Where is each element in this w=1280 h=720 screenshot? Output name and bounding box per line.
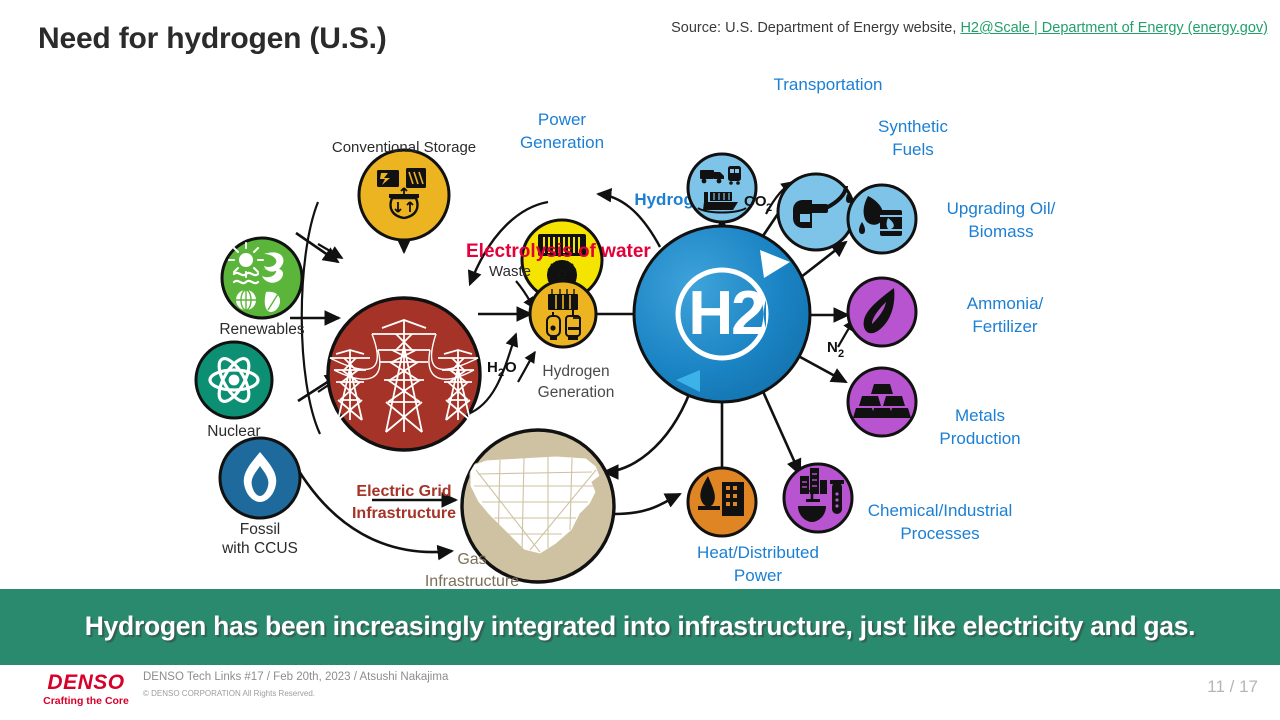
node-label-renewables: Renewables	[219, 321, 305, 338]
node-label-fossil-line1: Fossil	[240, 521, 280, 538]
source-prefix: Source: U.S. Department of Energy websit…	[671, 20, 956, 36]
node-fossil-ccus: Fossil with CCUS	[220, 438, 300, 557]
flow-label-water: H 2 O	[487, 359, 517, 379]
flow-label-waste: Waste	[489, 263, 531, 280]
node-chemical-industrial: Chemical/Industrial Processes	[784, 464, 1012, 543]
key-message-text: Hydrogen has been increasingly integrate…	[69, 611, 1211, 641]
node-power-generation: Power Generation	[520, 110, 604, 300]
annotation-electrolysis: Electrolysis of water	[466, 241, 651, 262]
node-nuclear: Nuclear	[196, 342, 272, 440]
node-label-conventional-storage: Conventional Storage	[332, 139, 476, 156]
node-label-chemical-line2: Processes	[900, 524, 979, 543]
node-upgrading-oil-biomass: Upgrading Oil/ Biomass	[848, 185, 1056, 253]
footer-meta: DENSO Tech Links #17 / Feb 20th, 2023 / …	[143, 671, 448, 683]
hub-glyph: H2	[688, 279, 763, 348]
node-label-upgrading-oil-line2: Biomass	[968, 222, 1033, 241]
node-label-electric-grid-line2: Infrastructure	[352, 505, 456, 522]
denso-wordmark: DENSO	[36, 672, 136, 693]
node-label-metals-line2: Production	[939, 429, 1020, 448]
node-label-power-generation-line1: Power	[538, 110, 587, 129]
node-ammonia-fertilizer: Ammonia/ Fertilizer	[848, 278, 1044, 346]
node-label-heat-line2: Power	[734, 566, 783, 585]
node-label-transportation: Transportation	[774, 75, 883, 94]
svg-text:N: N	[827, 339, 838, 356]
node-hydrogen-generation: Hydrogen Generation	[530, 281, 614, 401]
source-attribution: Source: U.S. Department of Energy websit…	[671, 20, 1268, 36]
node-label-power-generation-line2: Generation	[520, 133, 604, 152]
svg-text:CO: CO	[744, 193, 767, 210]
key-message-banner: Hydrogen has been increasingly integrate…	[0, 589, 1280, 663]
svg-text:2: 2	[838, 348, 844, 360]
node-conventional-storage: Conventional Storage	[332, 139, 476, 240]
node-label-hydrogen-generation-line2: Generation	[538, 384, 615, 401]
node-label-synthetic-fuels-line1: Synthetic	[878, 117, 948, 136]
h2-at-scale-diagram: Renewables Nuclear Fossil with CCUS	[0, 62, 1280, 587]
node-label-heat-line1: Heat/Distributed	[697, 543, 819, 562]
page-number: 11 / 17	[1207, 677, 1258, 697]
atom-nucleus	[229, 375, 240, 386]
node-label-ammonia-line2: Fertilizer	[972, 317, 1038, 336]
node-label-metals-line1: Metals	[955, 406, 1005, 425]
node-renewables: Renewables	[219, 238, 305, 338]
page-title: Need for hydrogen (U.S.)	[38, 22, 387, 56]
svg-text:O: O	[505, 359, 517, 376]
svg-text:H: H	[487, 359, 498, 376]
node-label-chemical-line1: Chemical/Industrial	[868, 501, 1013, 520]
node-electric-grid: Electric Grid Infrastructure	[328, 298, 480, 522]
source-link[interactable]: H2@Scale | Department of Energy (energy.…	[960, 20, 1268, 36]
denso-logo: DENSO Crafting the Core	[36, 672, 136, 707]
slide-footer: DENSO Crafting the Core DENSO Tech Links…	[0, 663, 1280, 720]
node-label-electric-grid-line1: Electric Grid	[356, 483, 451, 500]
footer-divider	[0, 663, 1280, 665]
node-label-hydrogen-generation-line1: Hydrogen	[542, 363, 609, 380]
node-label-upgrading-oil-line1: Upgrading Oil/	[947, 199, 1056, 218]
denso-tagline: Crafting the Core	[36, 696, 136, 707]
svg-text:2: 2	[498, 367, 504, 379]
node-metals-production: Metals Production	[848, 368, 1021, 448]
svg-text:2: 2	[766, 202, 772, 214]
node-label-gas-infrastructure-line1: Gas	[457, 551, 486, 568]
node-label-fossil-line2: with CCUS	[221, 540, 298, 557]
node-label-synthetic-fuels-line2: Fuels	[892, 140, 934, 159]
node-label-gas-infrastructure-line2: Infrastructure	[425, 573, 519, 587]
footer-copyright: © DENSO CORPORATION All Rights Reserved.	[143, 689, 315, 698]
node-label-ammonia-line1: Ammonia/	[967, 294, 1044, 313]
